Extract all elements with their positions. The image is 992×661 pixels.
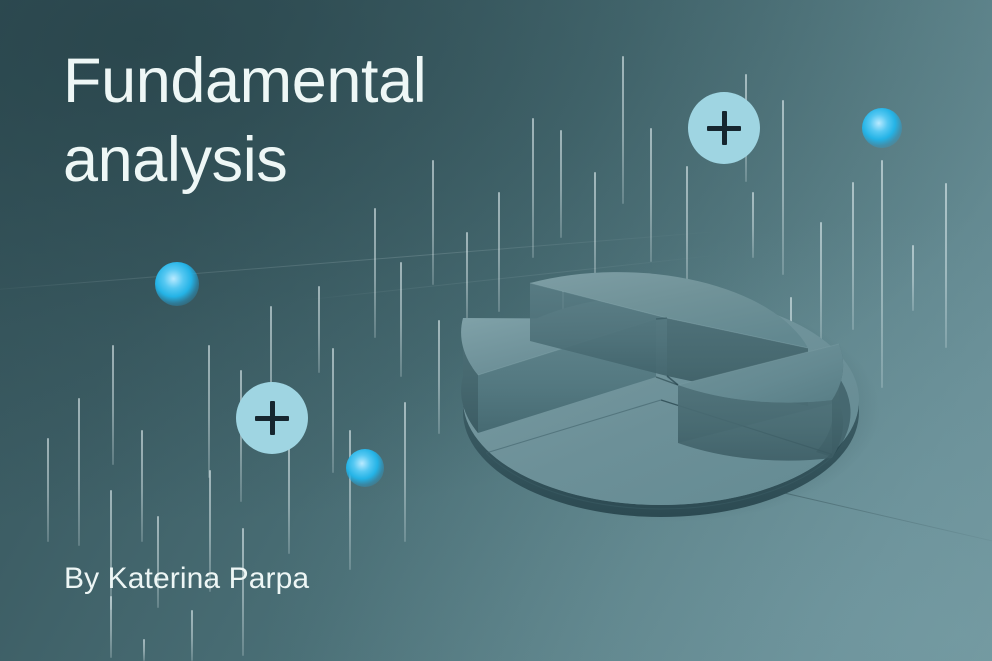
- glow-dot-left: [155, 262, 199, 306]
- plus-icon: [707, 126, 741, 131]
- plus-badge-left[interactable]: [236, 382, 308, 454]
- poster-canvas: Fundamental analysis By Katerina Parpa: [0, 0, 992, 661]
- author-byline: By Katerina Parpa: [64, 562, 309, 596]
- plus-icon: [255, 416, 289, 421]
- page-title: Fundamental analysis: [63, 42, 533, 200]
- plus-badge-top-right[interactable]: [688, 92, 760, 164]
- glow-dot-top-right: [862, 108, 902, 148]
- pie-chart-3d: [420, 205, 900, 535]
- glow-dot-lower-left: [346, 449, 384, 487]
